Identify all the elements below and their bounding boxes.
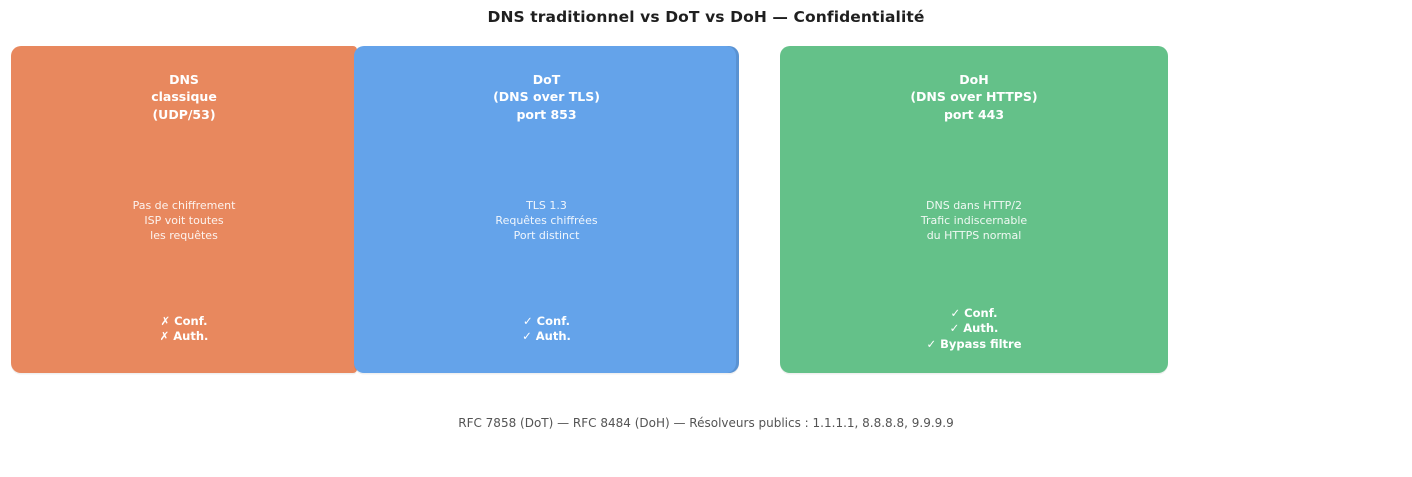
panel-dot-badges: ✓ Conf. ✓ Auth.: [354, 314, 739, 345]
panel-doh-badges: ✓ Conf. ✓ Auth. ✓ Bypass filtre: [780, 306, 1168, 352]
panel-doh: DoH (DNS over HTTPS) port 443 DNS dans H…: [780, 46, 1168, 373]
panel-doh-description: DNS dans HTTP/2 Trafic indiscernable du …: [780, 198, 1168, 243]
panel-dot-heading: DoT (DNS over TLS) port 853: [354, 71, 739, 123]
panel-dot-description: TLS 1.3 Requêtes chiffrées Port distinct: [354, 198, 739, 243]
panel-dot: DoT (DNS over TLS) port 853 TLS 1.3 Requ…: [354, 46, 739, 373]
panel-doh-heading: DoH (DNS over HTTPS) port 443: [780, 71, 1168, 123]
panel-dns-heading: DNS classique (UDP/53): [11, 71, 357, 123]
panel-dns-classique: DNS classique (UDP/53) Pas de chiffremen…: [11, 46, 357, 373]
panel-dns-description: Pas de chiffrement ISP voit toutes les r…: [11, 198, 357, 243]
figure-footnote: RFC 7858 (DoT) — RFC 8484 (DoH) — Résolv…: [0, 416, 1412, 430]
dns-privacy-comparison-figure: DNS traditionnel vs DoT vs DoH — Confide…: [0, 0, 1412, 477]
page-title: DNS traditionnel vs DoT vs DoH — Confide…: [0, 8, 1412, 26]
panel-dns-badges: ✗ Conf. ✗ Auth.: [11, 314, 357, 345]
